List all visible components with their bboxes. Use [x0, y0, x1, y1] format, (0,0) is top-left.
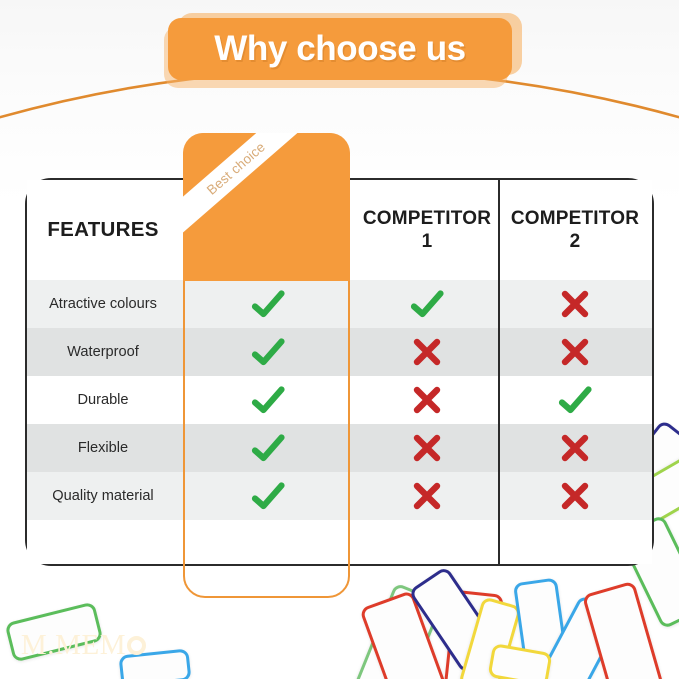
- feature-label: Flexible: [78, 440, 128, 456]
- check-icon: [407, 287, 447, 321]
- memo-header-panel: Best choice: [183, 133, 350, 281]
- table-row: Waterproof: [27, 328, 652, 376]
- competitor1-value-cell: [356, 376, 498, 424]
- check-icon: [248, 383, 288, 417]
- feature-label: Durable: [77, 392, 128, 408]
- title-banner: Why choose us: [168, 18, 512, 80]
- competitor2-value-cell: [498, 376, 652, 424]
- check-icon: [248, 287, 288, 321]
- banner-body: Why choose us: [168, 18, 512, 80]
- table-row: Quality material: [27, 472, 652, 520]
- memo-value-cell: [179, 328, 356, 376]
- best-choice-label: Best choice: [204, 139, 268, 198]
- competitor2-value-cell: [498, 328, 652, 376]
- check-icon: [555, 383, 595, 417]
- competitor1-header-label: COMPETITOR1: [363, 207, 491, 253]
- memo-value-cell: [179, 472, 356, 520]
- cross-icon: [555, 287, 595, 321]
- infographic-canvas: Why choose us FEATURES COMPETITOR1 COMPE…: [0, 0, 679, 679]
- competitor2-header-label: COMPETITOR2: [511, 207, 639, 253]
- competitor1-value-cell: [356, 328, 498, 376]
- memo-logo-ring-icon: [127, 636, 146, 655]
- check-icon: [248, 479, 288, 513]
- feature-label: Atractive colours: [49, 296, 157, 312]
- features-header-cell: FEATURES: [27, 180, 179, 280]
- cross-icon: [407, 479, 447, 513]
- memo-value-cell: [179, 376, 356, 424]
- feature-label-cell: Flexible: [27, 424, 179, 472]
- features-header-label: FEATURES: [47, 218, 158, 242]
- check-icon: [248, 431, 288, 465]
- cross-icon: [407, 431, 447, 465]
- memo-value-cell: [179, 280, 356, 328]
- page-title: Why choose us: [214, 29, 466, 69]
- feature-label-cell: Waterproof: [27, 328, 179, 376]
- table-row: Atractive colours: [27, 280, 652, 328]
- competitor2-value-cell: [498, 472, 652, 520]
- cross-icon: [555, 335, 595, 369]
- table-row: Durable: [27, 376, 652, 424]
- check-icon: [248, 335, 288, 369]
- cross-icon: [407, 335, 447, 369]
- cross-icon: [555, 479, 595, 513]
- feature-label: Quality material: [52, 488, 153, 504]
- competitor-column-divider: [498, 178, 500, 566]
- memo-logo: M.MEM: [0, 629, 167, 662]
- best-choice-ribbon: Best choice: [183, 133, 317, 241]
- competitor2-value-cell: [498, 280, 652, 328]
- memo-value-cell: [179, 424, 356, 472]
- competitor1-value-cell: [356, 280, 498, 328]
- table-footer-strip: [27, 520, 652, 564]
- competitor1-value-cell: [356, 424, 498, 472]
- competitor1-value-cell: [356, 472, 498, 520]
- competitor1-header-cell: COMPETITOR1: [356, 180, 498, 280]
- competitor2-value-cell: [498, 424, 652, 472]
- feature-label: Waterproof: [67, 344, 139, 360]
- feature-label-cell: Durable: [27, 376, 179, 424]
- memo-logo-text: M.MEM: [21, 629, 126, 661]
- cross-icon: [555, 431, 595, 465]
- cross-icon: [407, 383, 447, 417]
- competitor2-header-cell: COMPETITOR2: [498, 180, 652, 280]
- table-row: Flexible: [27, 424, 652, 472]
- feature-label-cell: Atractive colours: [27, 280, 179, 328]
- feature-label-cell: Quality material: [27, 472, 179, 520]
